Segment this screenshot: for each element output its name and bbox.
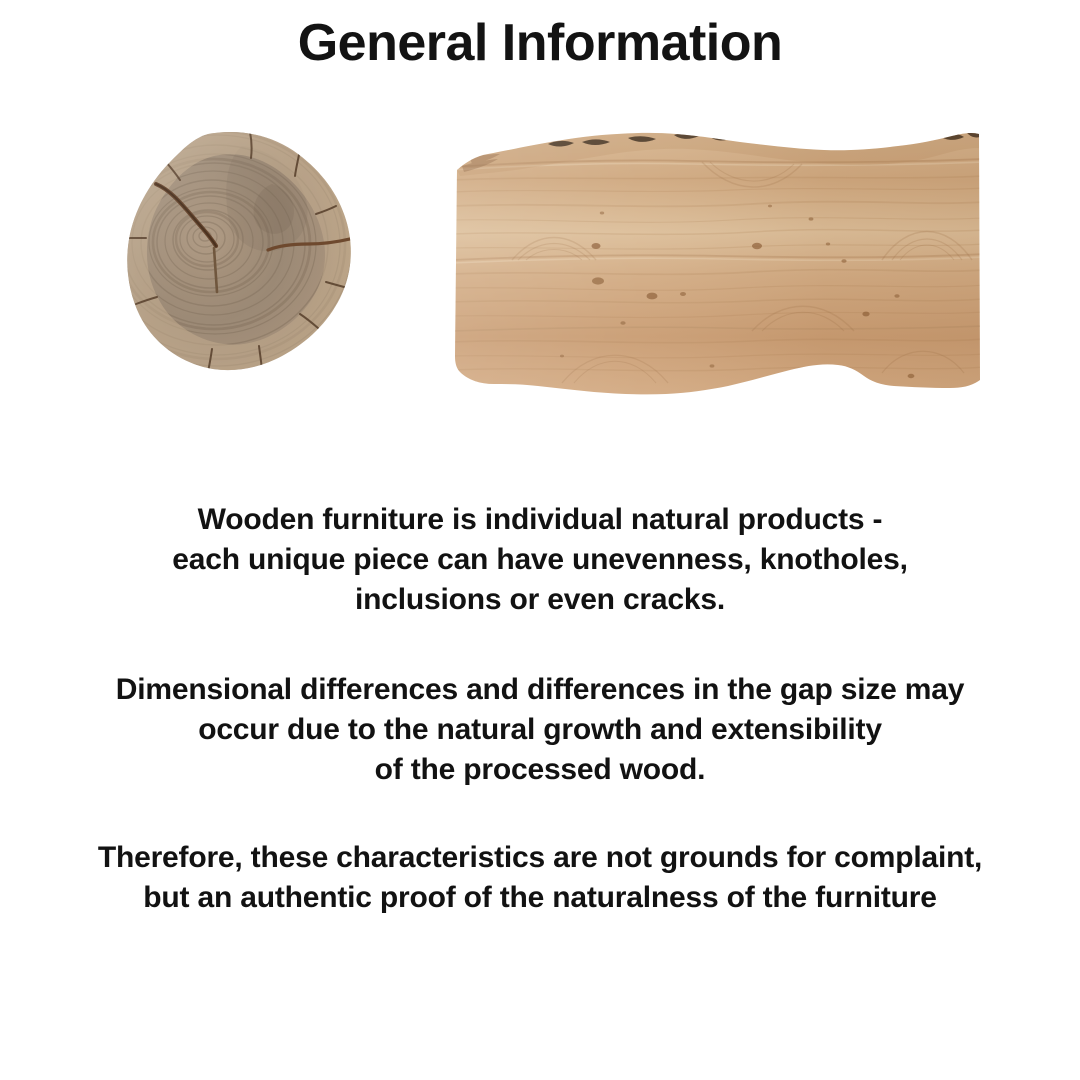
paragraph-line: Dimensional differences and differences … (0, 670, 1080, 710)
paragraph-line: occur due to the natural growth and exte… (0, 710, 1080, 750)
body-copy: Wooden furniture is individual natural p… (0, 500, 1080, 918)
paragraph-dimensional-differences: Dimensional differences and differences … (0, 670, 1080, 790)
tree-ring-slice-image (122, 128, 362, 376)
paragraph-not-grounds-for-complaint: Therefore, these characteristics are not… (0, 838, 1080, 918)
paragraph-line: Wooden furniture is individual natural p… (0, 500, 1080, 540)
paragraph-line: Therefore, these characteristics are not… (0, 838, 1080, 878)
paragraph-line: each unique piece can have unevenness, k… (0, 540, 1080, 580)
paragraph-line: of the processed wood. (0, 750, 1080, 790)
paragraph-natural-products: Wooden furniture is individual natural p… (0, 500, 1080, 620)
page-title: General Information (0, 12, 1080, 74)
product-images-row (0, 110, 1080, 400)
paragraph-line: but an authentic proof of the naturalnes… (0, 878, 1080, 918)
paragraph-line: inclusions or even cracks. (0, 580, 1080, 620)
general-information-page: General Information (0, 0, 1080, 1080)
live-edge-slab-image (452, 118, 984, 403)
